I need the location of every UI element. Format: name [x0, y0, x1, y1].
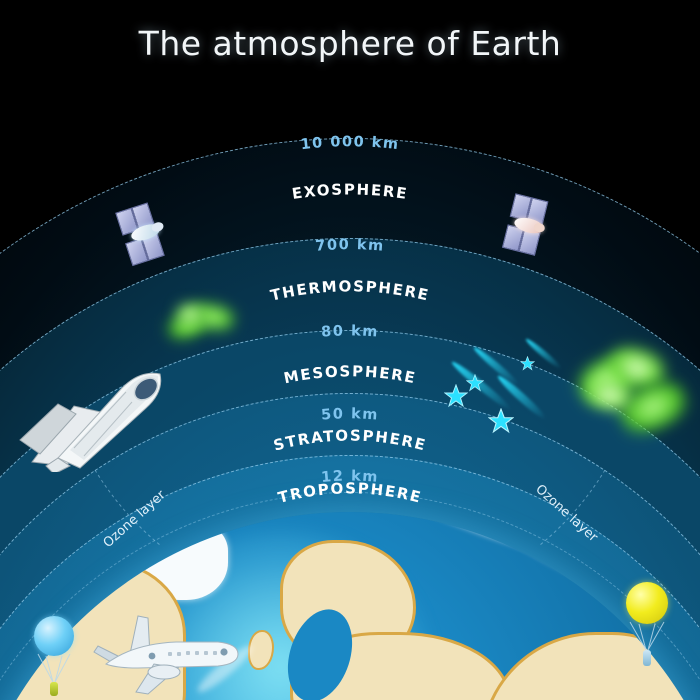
page-title: The atmosphere of Earth	[0, 24, 700, 63]
weather-balloon-icon	[26, 616, 82, 700]
infographic-canvas: 10 000 km EXOSPHERE 700 km THERMOSPHERE …	[0, 0, 700, 700]
aurora-icon	[572, 340, 697, 445]
airplane-icon	[92, 606, 240, 698]
space-shuttle-icon	[14, 362, 174, 472]
meteor-head-icon	[444, 384, 468, 412]
weather-balloon-icon	[618, 582, 674, 668]
aurora-icon	[165, 300, 245, 350]
meteor-icon	[440, 330, 580, 450]
